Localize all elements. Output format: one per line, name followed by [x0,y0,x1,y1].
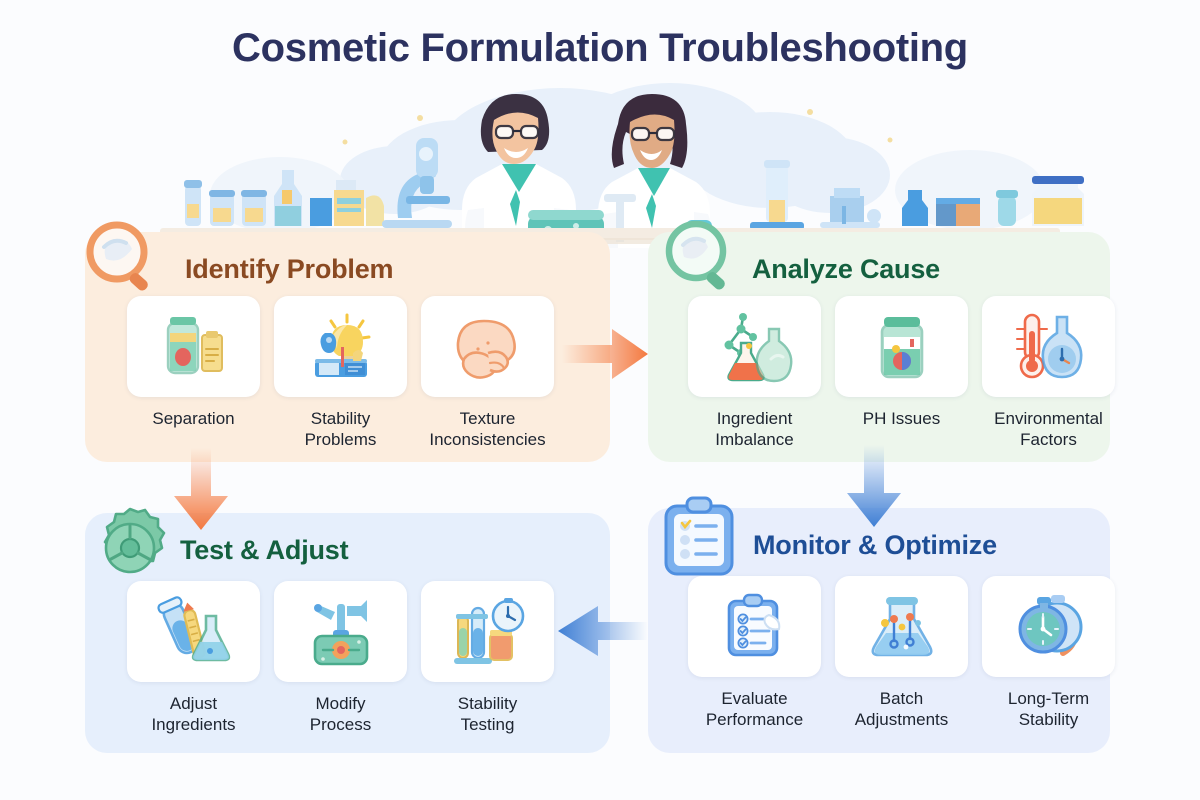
card-group-analyze: Ingredient Imbalance PH Issues [688,296,1115,450]
card-label: Stability Problems [305,408,377,450]
panel-title-identify: Identify Problem [185,254,393,285]
clipboard-check-icon [688,576,821,677]
card-group-test: Adjust Ingredients Modify Proc [127,581,554,735]
panel-identify-problem[interactable]: Identify Problem [85,232,610,462]
panel-title-analyze: Analyze Cause [752,254,940,285]
card-evaluate-performance[interactable]: Evaluate Performance [688,576,821,730]
card-label: Stability Testing [458,693,518,735]
card-stability-testing[interactable]: Stability Testing [421,581,554,735]
page-title: Cosmetic Formulation Troubleshooting [0,26,1200,71]
card-ingredient-imbalance[interactable]: Ingredient Imbalance [688,296,821,450]
card-group-monitor: Evaluate Performance [688,576,1115,730]
clipboard-blue-icon [656,496,742,582]
test-tube-flask-icon [127,581,260,682]
card-environmental-factors[interactable]: Environmental Factors [982,296,1115,450]
card-label: PH Issues [863,408,940,429]
separation-jar-icon [127,296,260,397]
card-adjust-ingredients[interactable]: Adjust Ingredients [127,581,260,735]
gear-green-icon [87,505,173,591]
process-machine-icon [274,581,407,682]
arrow-identify-to-test [172,448,230,530]
card-label: Evaluate Performance [706,688,803,730]
card-label: Batch Adjustments [855,688,949,730]
magnifier-green-icon [656,217,742,303]
panel-test-and-adjust[interactable]: Test & Adjust [85,513,610,753]
card-group-identify: Separation [127,296,554,450]
batch-flask-icon [835,576,968,677]
panel-analyze-cause[interactable]: Analyze Cause [648,232,1110,462]
card-label: Modify Process [310,693,371,735]
card-label: Environmental Factors [994,408,1103,450]
test-rack-timer-icon [421,581,554,682]
thermometer-flask-icon [982,296,1115,397]
arrow-monitor-to-test [558,602,648,660]
card-separation[interactable]: Separation [127,296,260,450]
molecule-flask-icon [688,296,821,397]
stopwatch-icon [982,576,1115,677]
lab-scene-illustration [130,80,1090,248]
card-label: Ingredient Imbalance [715,408,793,450]
arrow-analyze-to-monitor [845,445,903,527]
panel-title-test: Test & Adjust [180,535,348,566]
panel-monitor-and-optimize[interactable]: Monitor & Optimize [648,508,1110,753]
card-texture-inconsistencies[interactable]: Texture Inconsistencies [421,296,554,450]
card-label: Separation [152,408,234,429]
card-ph-issues[interactable]: PH Issues [835,296,968,450]
card-long-term-stability[interactable]: Long-Term Stability [982,576,1115,730]
arrow-identify-to-analyze [562,325,648,383]
ph-jar-icon [835,296,968,397]
magnifier-orange-icon [80,217,166,303]
card-label: Long-Term Stability [1008,688,1089,730]
card-label: Texture Inconsistencies [429,408,545,450]
card-stability-problems[interactable]: Stability Problems [274,296,407,450]
card-modify-process[interactable]: Modify Process [274,581,407,735]
panel-title-monitor: Monitor & Optimize [753,530,997,561]
stability-lightbulb-icon [274,296,407,397]
card-batch-adjustments[interactable]: Batch Adjustments [835,576,968,730]
texture-hand-icon [421,296,554,397]
card-label: Adjust Ingredients [151,693,235,735]
